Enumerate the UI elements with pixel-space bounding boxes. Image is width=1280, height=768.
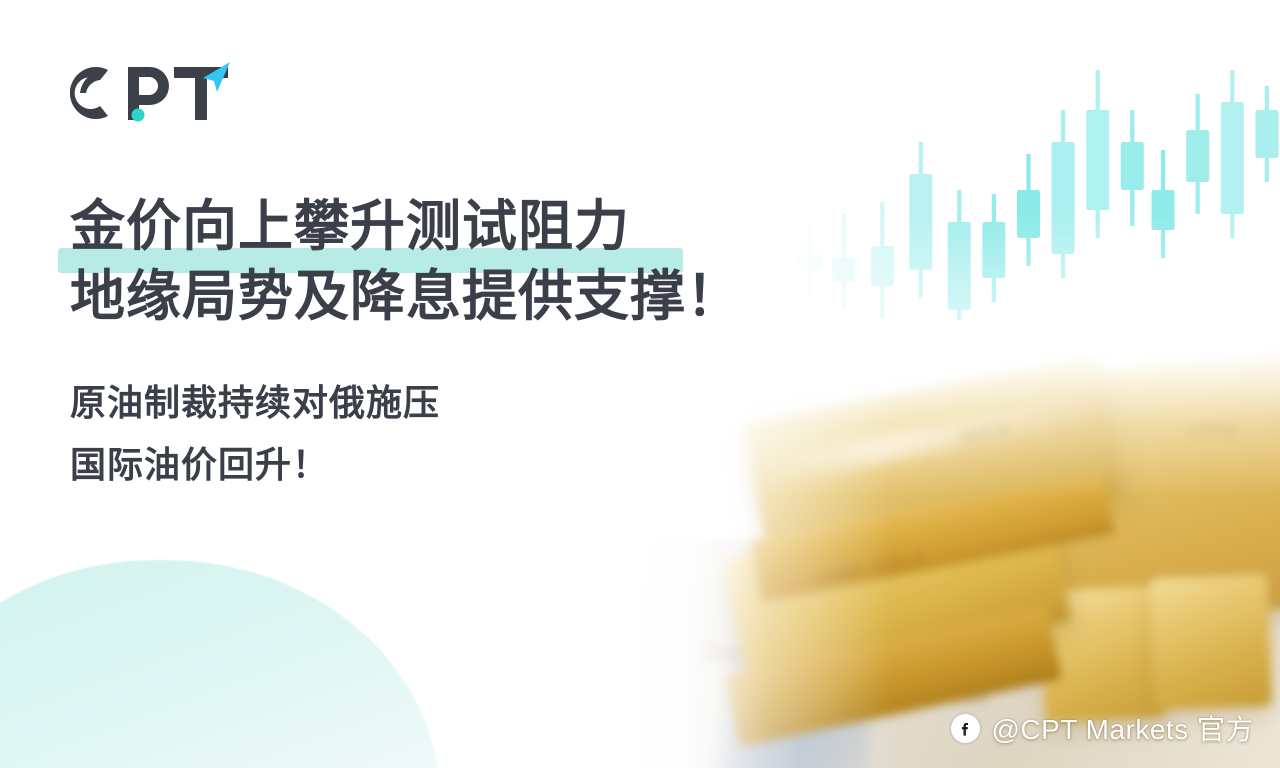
- headline-line-1: 金价向上攀升测试阻力: [70, 196, 830, 256]
- gold-bar-stamp-c: 1000g: [1188, 421, 1238, 440]
- poster-canvas: Stat with us the political bonds 999.9 F…: [0, 0, 1280, 768]
- candlestick-6: [1017, 154, 1040, 266]
- candlestick-11: [1186, 94, 1209, 214]
- watermark-handle: @CPT Markets 官方: [991, 708, 1254, 748]
- cpt-logo[interactable]: [70, 56, 240, 138]
- candlestick-3: [909, 142, 932, 298]
- logo-teal-dot: [132, 109, 145, 122]
- candlestick-2: [871, 202, 894, 318]
- headline-block: 金价向上攀升测试阻力 地缘局势及降息提供支撑！: [70, 196, 830, 326]
- candlestick-4: [948, 190, 971, 346]
- subheadline-block: 原油制裁持续对俄施压 国际油价回升！: [70, 372, 770, 496]
- candlestick-8: [1086, 70, 1109, 238]
- subheadline-line-2: 国际油价回升！: [70, 434, 770, 496]
- candlestick-1: [832, 214, 855, 310]
- teal-blob: [0, 560, 440, 768]
- candlestick-12: [1221, 70, 1244, 238]
- candlestick-5: [982, 194, 1005, 302]
- candlestick-7: [1052, 110, 1075, 278]
- headline-line-1-text: 金价向上攀升测试阻力: [70, 195, 630, 257]
- social-watermark[interactable]: @CPT Markets 官方: [951, 708, 1254, 748]
- headline-line-2: 地缘局势及降息提供支撑！: [70, 266, 830, 326]
- candlestick-10: [1152, 150, 1175, 258]
- headline-line-2-text: 地缘局势及降息提供支撑！: [70, 265, 742, 327]
- candlestick-13: [1255, 86, 1278, 182]
- facebook-icon[interactable]: [951, 714, 980, 743]
- subheadline-line-1: 原油制裁持续对俄施压: [70, 372, 770, 434]
- gold-bar-small-right: [1150, 574, 1273, 710]
- candlestick-9: [1121, 110, 1144, 226]
